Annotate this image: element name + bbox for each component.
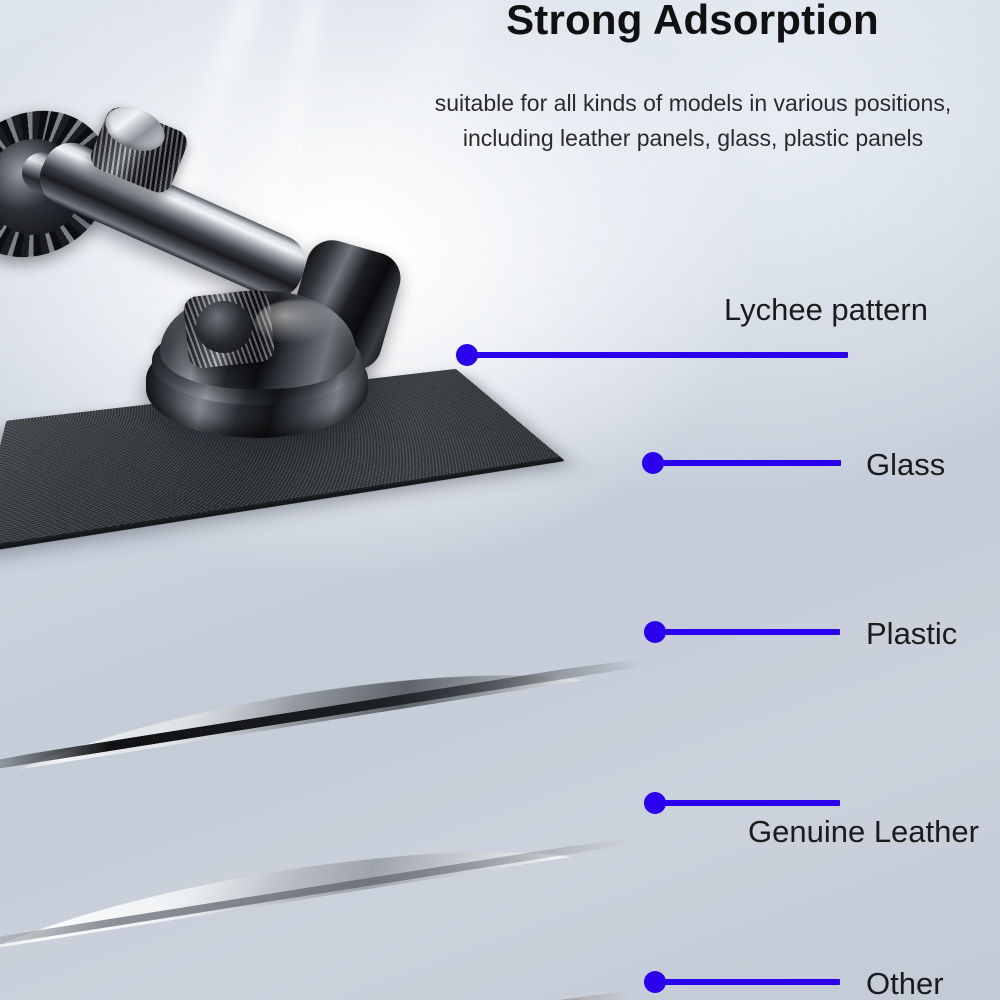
- callout-label: Glass: [866, 449, 945, 480]
- callout-dot-icon: [456, 344, 478, 366]
- suction-cup-highlight: [255, 300, 339, 344]
- callout-label: Genuine Leather: [748, 816, 979, 847]
- callout-leader-line: [467, 352, 848, 358]
- callout-dot-icon: [644, 971, 666, 993]
- callout-dot-icon: [644, 792, 666, 814]
- callout-label: Lychee pattern: [724, 294, 928, 325]
- lower-knob-cap: [196, 301, 252, 353]
- callout-leader-line: [655, 979, 840, 985]
- callout-dot-icon: [642, 452, 664, 474]
- callout-leader-line: [653, 460, 841, 466]
- page-subtitle: suitable for all kinds of models in vari…: [398, 86, 988, 156]
- callout-label: Plastic: [866, 618, 957, 649]
- callout-leader-line: [655, 800, 840, 806]
- callout-label: Other: [866, 968, 944, 999]
- callout-dot-icon: [644, 621, 666, 643]
- page-title: Strong Adsorption: [400, 0, 985, 42]
- callout-leader-line: [655, 629, 840, 635]
- product-feature-image: Strong Adsorption suitable for all kinds…: [0, 0, 1000, 1000]
- suction-cup-phone-mount: [0, 95, 420, 435]
